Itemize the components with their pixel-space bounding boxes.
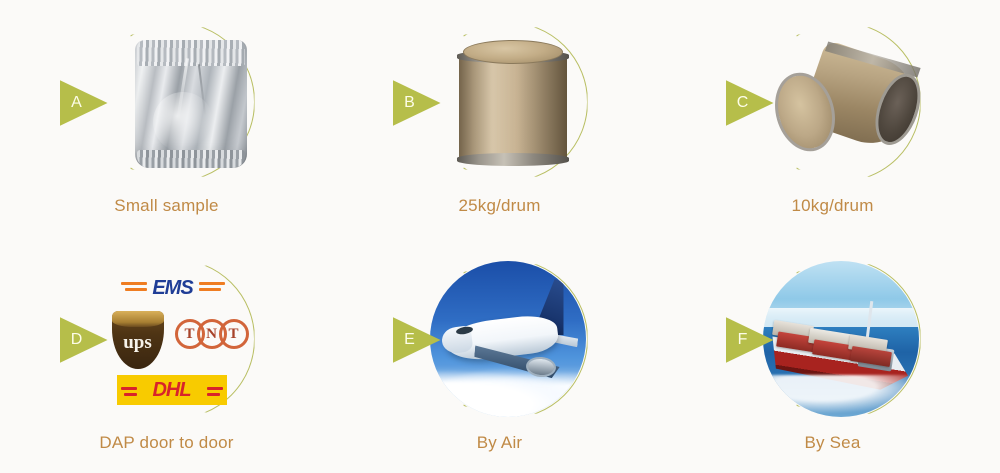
panel-a-badge[interactable]: A xyxy=(60,80,108,126)
ems-logo-text: EMS xyxy=(121,275,225,301)
courier-logo-group: EMS ups T N T DHL xyxy=(95,259,255,419)
panel-c-caption: 10kg/drum xyxy=(666,196,999,216)
panel-b-badge-letter: B xyxy=(393,80,427,126)
panel-f-by-sea[interactable]: F By Sea xyxy=(666,237,999,473)
tnt-letter-3: T xyxy=(219,319,249,349)
fiber-drum-image xyxy=(459,40,567,170)
panel-d-stage: EMS ups T N T DHL xyxy=(52,255,282,423)
panel-a-stage: A xyxy=(52,18,282,186)
panel-c-badge[interactable]: C xyxy=(726,80,774,126)
panel-d-dap-door-to-door[interactable]: EMS ups T N T DHL xyxy=(0,237,333,473)
ems-logo: EMS xyxy=(121,275,225,301)
panel-e-by-air[interactable]: E By Air xyxy=(333,237,666,473)
panel-a-small-sample[interactable]: A Small sample xyxy=(0,0,333,236)
tnt-logo: T N T xyxy=(175,319,249,349)
ups-logo-text: ups xyxy=(112,328,164,358)
panel-c-badge-letter: C xyxy=(726,80,760,126)
panel-b-25kg-drum[interactable]: B 25kg/drum xyxy=(333,0,666,236)
panel-f-badge[interactable]: F xyxy=(726,317,774,363)
panel-f-badge-letter: F xyxy=(726,317,760,363)
packaging-shipping-infographic: A Small sample B 25kg/drum xyxy=(0,0,1000,473)
panel-d-caption: DAP door to door xyxy=(0,433,333,453)
panel-f-stage: F xyxy=(718,255,948,423)
dhl-logo: DHL xyxy=(117,375,227,405)
panel-e-stage: E xyxy=(385,255,615,423)
panel-a-caption: Small sample xyxy=(0,196,333,216)
panel-f-caption: By Sea xyxy=(666,433,999,453)
panel-b-badge[interactable]: B xyxy=(393,80,441,126)
panel-e-badge[interactable]: E xyxy=(393,317,441,363)
panel-b-caption: 25kg/drum xyxy=(333,196,666,216)
panel-d-badge[interactable]: D xyxy=(60,317,108,363)
open-drum-image xyxy=(774,48,922,160)
dhl-logo-text: DHL xyxy=(117,375,227,405)
panel-b-stage: B xyxy=(385,18,615,186)
panel-e-caption: By Air xyxy=(333,433,666,453)
panel-e-badge-letter: E xyxy=(393,317,427,363)
ups-logo: ups xyxy=(112,311,164,369)
panel-c-10kg-drum[interactable]: C 10kg/drum xyxy=(666,0,999,236)
silver-foil-pouch-image xyxy=(135,40,247,168)
panel-d-badge-letter: D xyxy=(60,317,94,363)
panel-c-stage: C xyxy=(718,18,948,186)
panel-a-badge-letter: A xyxy=(60,80,94,126)
